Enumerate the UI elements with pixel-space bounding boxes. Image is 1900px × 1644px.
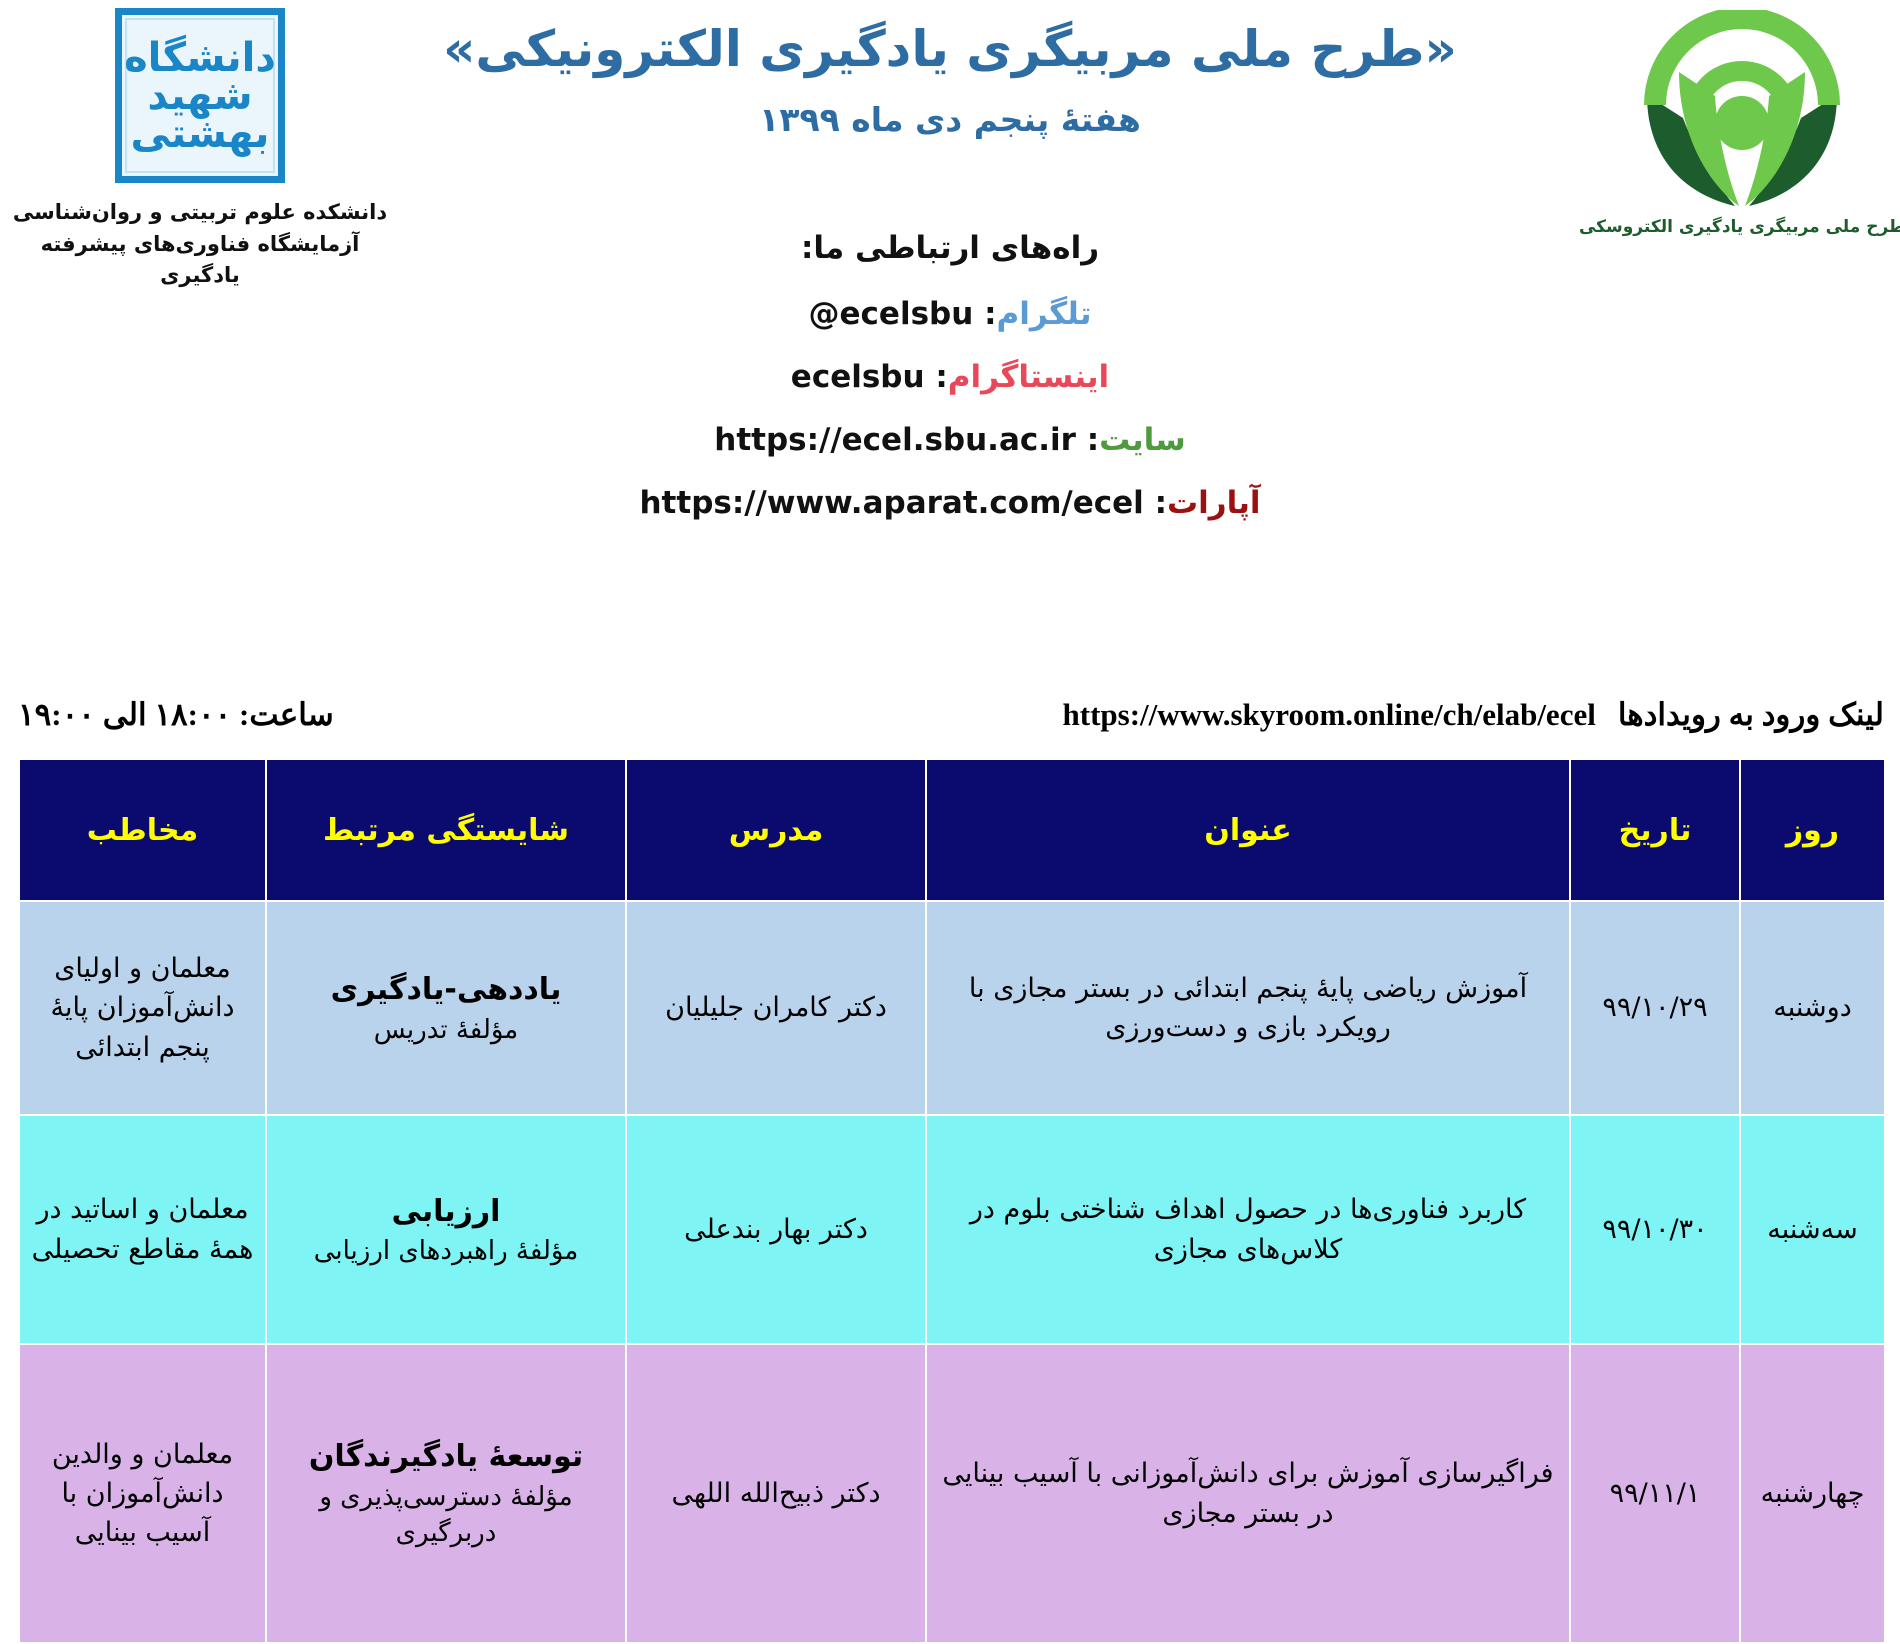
cell-teacher: دکتر ذبیح‌الله اللهی [626, 1344, 926, 1643]
contact-separator: : [935, 359, 947, 395]
instagram-handle[interactable]: ecelsbu [791, 359, 925, 395]
column-header-audience: مخاطب [19, 759, 266, 901]
event-link-url[interactable]: https://www.skyroom.online/ch/elab/ecel [1063, 697, 1596, 733]
sbu-caption-line-1: دانشکده علوم تربیتی و روان‌شناسی [0, 197, 400, 229]
competency-main: ارزیابی [275, 1190, 617, 1234]
cell-audience: معلمان و اولیای دانش‌آموزان پایهٔ پنجم ا… [19, 901, 266, 1115]
table-header-row: روز تاریخ عنوان مدرس شایستگی مرتبط مخاطب [19, 759, 1885, 901]
website-label: سایت [1099, 422, 1186, 458]
shahid-beheshti-university-logo: دانشگاه شهید بهشتی [115, 8, 285, 183]
page-subtitle: هفتهٔ پنجم دی ماه ۱۳۹۹ [330, 100, 1570, 139]
table-row: چهارشنبه ۹۹/۱۱/۱ فراگیرسازی آموزش برای د… [19, 1344, 1885, 1643]
contact-row-website: سایت: https://ecel.sbu.ac.ir [0, 422, 1900, 458]
cell-date: ۹۹/۱۱/۱ [1570, 1344, 1740, 1643]
contact-separator: : [1155, 485, 1167, 521]
cell-competency: ارزیابی مؤلفهٔ راهبردهای ارزیابی [266, 1115, 626, 1344]
competency-main: یاددهی-یادگیری [275, 968, 617, 1012]
title-block: «طرح ملی مربیگری یادگیری الکترونیکی» هفت… [330, 20, 1570, 139]
contact-heading: راه‌های ارتباطی ما: [0, 230, 1900, 266]
event-link-label: لینک ورود به رویدادها [1618, 697, 1884, 733]
table-row: سه‌شنبه ۹۹/۱۰/۳۰ کاربرد فناوری‌ها در حصو… [19, 1115, 1885, 1344]
contact-row-telegram: تلگرام: @ecelsbu [0, 296, 1900, 332]
cell-date: ۹۹/۱۰/۲۹ [1570, 901, 1740, 1115]
instagram-label: اینستاگرام [948, 359, 1109, 395]
competency-sub: مؤلفهٔ راهبردهای ارزیابی [275, 1233, 617, 1269]
telegram-label: تلگرام [997, 296, 1092, 332]
table-row: دوشنبه ۹۹/۱۰/۲۹ آموزش ریاضی پایهٔ پنجم ا… [19, 901, 1885, 1115]
aparat-url[interactable]: https://www.aparat.com/ecel [639, 485, 1143, 521]
cell-date: ۹۹/۱۰/۳۰ [1570, 1115, 1740, 1344]
contact-separator: : [984, 296, 996, 332]
column-header-day: روز [1740, 759, 1885, 901]
cell-day: چهارشنبه [1740, 1344, 1885, 1643]
event-time: ساعت: ۱۸:۰۰ الی ۱۹:۰۰ [18, 697, 334, 733]
cell-day: دوشنبه [1740, 901, 1885, 1115]
schedule-table: روز تاریخ عنوان مدرس شایستگی مرتبط مخاطب… [18, 758, 1886, 1644]
page-title: «طرح ملی مربیگری یادگیری الکترونیکی» [330, 20, 1570, 78]
column-header-date: تاریخ [1570, 759, 1740, 901]
competency-sub: مؤلفهٔ دسترسی‌پذیری و دربرگیری [275, 1479, 617, 1552]
contact-section: راه‌های ارتباطی ما: تلگرام: @ecelsbu این… [0, 230, 1900, 548]
cell-audience: معلمان و اساتید در همهٔ مقاطع تحصیلی [19, 1115, 266, 1344]
website-url[interactable]: https://ecel.sbu.ac.ir [714, 422, 1076, 458]
ecel-logo-block: طرح ملی مربیگری یادگیری الکتروسکی [1592, 10, 1892, 237]
sbu-logo-calligraphy: دانشگاه شهید بهشتی [125, 18, 275, 173]
contact-separator: : [1087, 422, 1099, 458]
cell-title: آموزش ریاضی پایهٔ پنجم ابتدائی در بستر م… [926, 901, 1570, 1115]
cell-audience: معلمان و والدین دانش‌آموزان با آسیب بینا… [19, 1344, 266, 1643]
cell-teacher: دکتر کامران جلیلیان [626, 901, 926, 1115]
cell-title: فراگیرسازی آموزش برای دانش‌آموزانی با آس… [926, 1344, 1570, 1643]
aparat-label: آپارات [1167, 485, 1261, 521]
ecel-wifi-hands-logo [1617, 10, 1867, 215]
column-header-teacher: مدرس [626, 759, 926, 901]
column-header-title: عنوان [926, 759, 1570, 901]
cell-title: کاربرد فناوری‌ها در حصول اهداف شناختی بل… [926, 1115, 1570, 1344]
event-link-bar: لینک ورود به رویدادها https://www.skyroo… [18, 690, 1884, 740]
contact-row-instagram: اینستاگرام: ecelsbu [0, 359, 1900, 395]
competency-sub: مؤلفهٔ تدریس [275, 1012, 617, 1048]
cell-day: سه‌شنبه [1740, 1115, 1885, 1344]
cell-teacher: دکتر بهار بندعلی [626, 1115, 926, 1344]
telegram-handle[interactable]: @ecelsbu [809, 296, 974, 332]
contact-row-aparat: آپارات: https://www.aparat.com/ecel [0, 485, 1900, 521]
cell-competency: یاددهی-یادگیری مؤلفهٔ تدریس [266, 901, 626, 1115]
column-header-competency: شایستگی مرتبط [266, 759, 626, 901]
competency-main: توسعهٔ یادگیرندگان [275, 1435, 617, 1479]
cell-competency: توسعهٔ یادگیرندگان مؤلفهٔ دسترسی‌پذیری و… [266, 1344, 626, 1643]
